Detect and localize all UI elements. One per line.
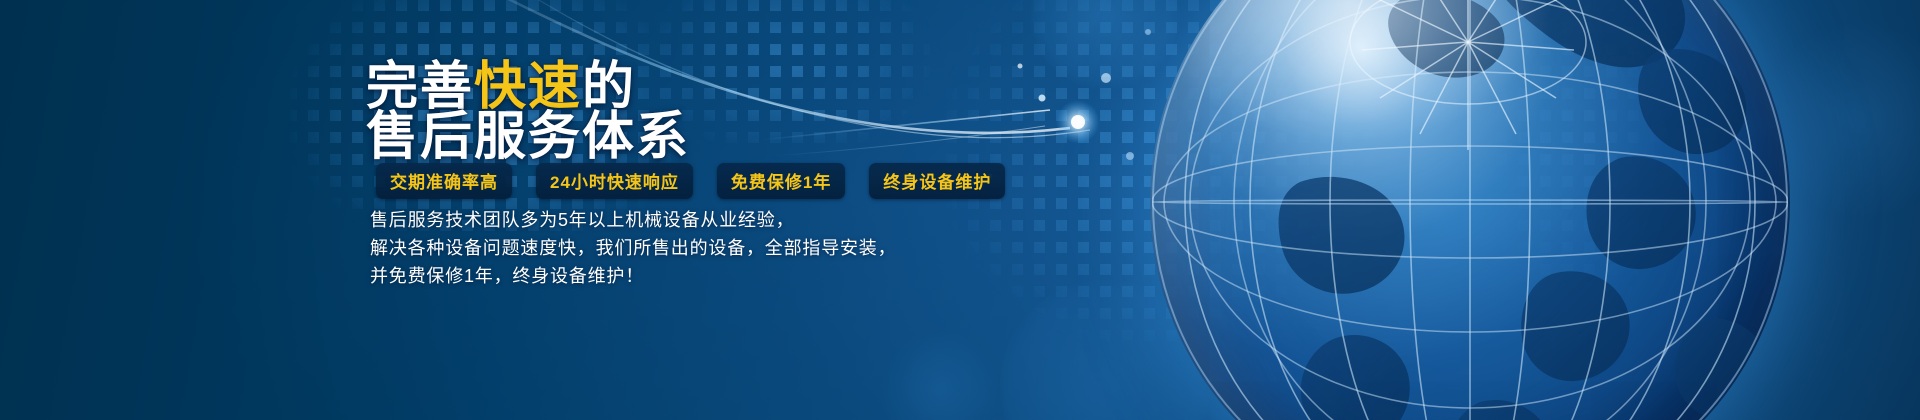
description-line-1: 售后服务技术团队多为5年以上机械设备从业经验， [370, 206, 896, 234]
feature-badge-lifetime: 终身设备维护 [869, 163, 1005, 199]
banner-description: 售后服务技术团队多为5年以上机械设备从业经验， 解决各种设备问题速度快，我们所售… [370, 206, 896, 290]
description-line-3: 并免费保修1年，终身设备维护！ [370, 262, 896, 290]
feature-badge-warranty: 免费保修1年 [717, 163, 845, 199]
feature-badge-delivery: 交期准确率高 [376, 163, 512, 199]
feature-badge-response: 24小时快速响应 [536, 163, 693, 199]
headline-line-2: 售后服务体系 [366, 108, 690, 166]
banner-content: 完善快速的 售后服务体系 交期准确率高 24小时快速响应 免费保修1年 终身设备… [0, 0, 1060, 420]
feature-badge-list: 交期准确率高 24小时快速响应 免费保修1年 终身设备维护 [376, 163, 1005, 199]
description-line-2: 解决各种设备问题速度快，我们所售出的设备，全部指导安装， [370, 234, 896, 262]
service-banner: 完善快速的 售后服务体系 交期准确率高 24小时快速响应 免费保修1年 终身设备… [0, 0, 1920, 420]
